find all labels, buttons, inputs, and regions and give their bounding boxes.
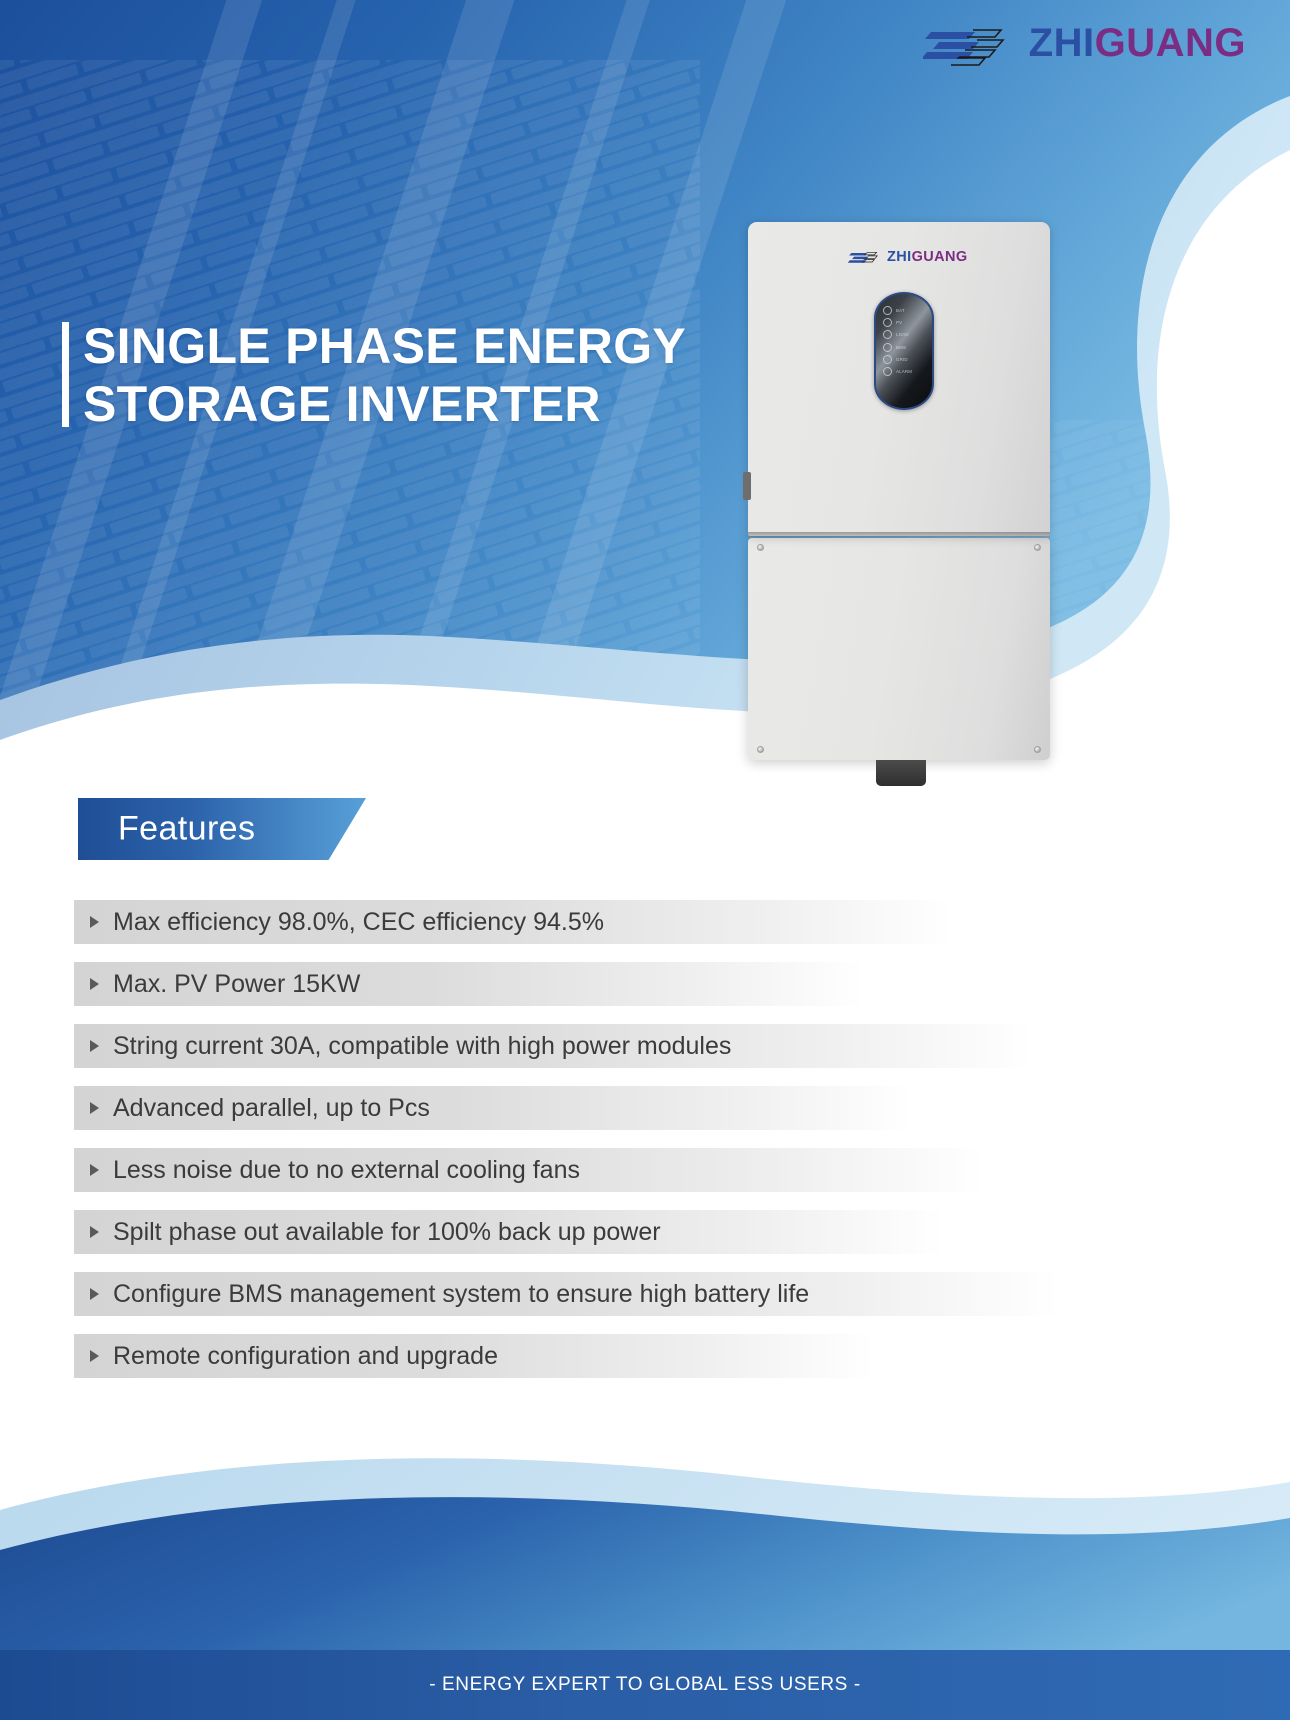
led-indicator-row: GRID <box>883 355 912 364</box>
product-brand-logo: ZHIGUANG <box>848 248 968 266</box>
features-heading-ribbon: Features <box>78 798 366 860</box>
feature-list-item: Spilt phase out available for 100% back … <box>74 1210 1074 1254</box>
footer-tagline: - ENERGY EXPERT TO GLOBAL ESS USERS - <box>429 1674 861 1696</box>
bullet-triangle-icon <box>90 1350 99 1362</box>
product-screw <box>757 544 764 551</box>
title-lines: SINGLE PHASE ENERGY STORAGE INVERTER <box>83 318 686 433</box>
feature-list-item: Configure BMS management system to ensur… <box>74 1272 1074 1316</box>
bullet-triangle-icon <box>90 978 99 990</box>
led-indicator-row: BMS <box>883 343 912 352</box>
solar-panel-icon <box>883 318 892 327</box>
feature-list-item: Remote configuration and upgrade <box>74 1334 1074 1378</box>
brand-guang-text: GUANG <box>1095 21 1246 65</box>
product-brand-wordmark: ZHIGUANG <box>887 249 968 265</box>
bullet-triangle-icon <box>90 1164 99 1176</box>
product-image: ZHIGUANG BAT PV LOAD <box>748 222 1050 770</box>
title-line-1: SINGLE PHASE ENERGY <box>83 318 686 376</box>
product-enclosure-seam <box>748 532 1050 538</box>
feature-list-item: Max efficiency 98.0%, CEC efficiency 94.… <box>74 900 1074 944</box>
bullet-triangle-icon <box>90 1226 99 1238</box>
bullet-triangle-icon <box>90 1102 99 1114</box>
feature-list-item: Less noise due to no external cooling fa… <box>74 1148 1074 1192</box>
feature-text: Remote configuration and upgrade <box>113 1342 498 1371</box>
feature-text: Configure BMS management system to ensur… <box>113 1280 809 1309</box>
load-icon <box>883 330 892 339</box>
feature-list-item: String current 30A, compatible with high… <box>74 1024 1074 1068</box>
page-title: SINGLE PHASE ENERGY STORAGE INVERTER <box>62 318 686 433</box>
feature-text: String current 30A, compatible with high… <box>113 1032 731 1061</box>
feature-list-item: Max. PV Power 15KW <box>74 962 1074 1006</box>
led-indicator-row: LOAD <box>883 330 912 339</box>
product-screw <box>1034 544 1041 551</box>
product-side-bracket <box>743 472 751 500</box>
led-indicator-row: ALARM <box>883 367 912 376</box>
bullet-triangle-icon <box>90 1040 99 1052</box>
led-indicator-row: PV <box>883 318 912 327</box>
brochure-page: ZHIGUANG SINGLE PHASE ENERGY STORAGE INV… <box>0 0 1290 1720</box>
battery-icon <box>883 306 892 315</box>
product-zhiguang-stripes-logo-icon <box>848 248 882 266</box>
brand-zhi-text: ZHI <box>1029 21 1095 65</box>
feature-text: Max efficiency 98.0%, CEC efficiency 94.… <box>113 908 604 937</box>
product-led-display-panel: BAT PV LOAD BMS <box>874 292 934 410</box>
product-brand-guang-text: GUANG <box>912 249 968 265</box>
bms-icon <box>883 343 892 352</box>
bullet-triangle-icon <box>90 916 99 928</box>
led-label: ALARM <box>896 369 912 374</box>
product-screw <box>757 746 764 753</box>
grid-icon <box>883 355 892 364</box>
led-label: GRID <box>896 357 908 362</box>
product-lower-enclosure <box>748 538 1050 760</box>
product-screw <box>1034 746 1041 753</box>
page-footer: - ENERGY EXPERT TO GLOBAL ESS USERS - <box>0 1390 1290 1720</box>
feature-text: Max. PV Power 15KW <box>113 970 360 999</box>
led-label: PV <box>896 320 902 325</box>
feature-list-item: Advanced parallel, up to Pcs <box>74 1086 1074 1130</box>
features-heading-label: Features <box>118 810 255 849</box>
hero-banner: ZHIGUANG SINGLE PHASE ENERGY STORAGE INV… <box>0 0 1290 740</box>
zhiguang-stripes-logo-icon <box>923 18 1015 68</box>
header-brand-logo: ZHIGUANG <box>923 18 1246 68</box>
feature-text: Advanced parallel, up to Pcs <box>113 1094 430 1123</box>
led-indicator-row: BAT <box>883 306 912 315</box>
bullet-triangle-icon <box>90 1288 99 1300</box>
led-label: BAT <box>896 308 905 313</box>
product-cable-conduit <box>876 760 926 786</box>
product-upper-enclosure: ZHIGUANG BAT PV LOAD <box>748 222 1050 536</box>
brand-wordmark: ZHIGUANG <box>1029 23 1246 63</box>
features-list: Max efficiency 98.0%, CEC efficiency 94.… <box>74 900 1074 1396</box>
title-line-2: STORAGE INVERTER <box>83 376 686 434</box>
feature-text: Spilt phase out available for 100% back … <box>113 1218 661 1247</box>
product-brand-zhi-text: ZHI <box>887 249 912 265</box>
led-indicator-list: BAT PV LOAD BMS <box>883 306 912 376</box>
title-accent-bar <box>62 322 69 427</box>
feature-text: Less noise due to no external cooling fa… <box>113 1156 580 1185</box>
led-label: LOAD <box>896 332 909 337</box>
alarm-icon <box>883 367 892 376</box>
footer-tagline-bar: - ENERGY EXPERT TO GLOBAL ESS USERS - <box>0 1650 1290 1720</box>
led-label: BMS <box>896 345 906 350</box>
